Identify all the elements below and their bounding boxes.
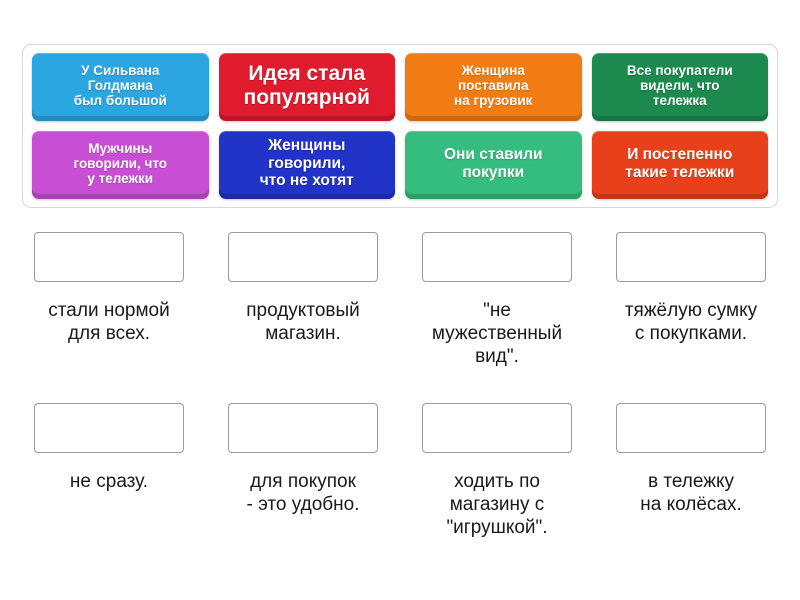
draggable-tile-5[interactable]: Мужчины говорили, что у тележки [32,131,209,199]
answer-item: ходить по магазину с "игрушкой". [410,403,584,540]
drop-zone-1[interactable] [34,232,184,282]
drop-zone-5[interactable] [34,403,184,453]
drop-zone-4[interactable] [616,232,766,282]
tile-bank-panel: У Сильвана Голдмана был большой Идея ста… [22,44,778,208]
answer-item: продуктовый магазин. [216,232,390,369]
tile-label: Женщины говорили, что не хотят [224,137,391,189]
draggable-tile-1[interactable]: У Сильвана Голдмана был большой [32,53,209,121]
answer-item: стали нормой для всех. [22,232,196,369]
drop-zone-2[interactable] [228,232,378,282]
draggable-tile-6[interactable]: Женщины говорили, что не хотят [219,131,396,199]
answer-item: для покупок - это удобно. [216,403,390,540]
answer-item: тяжёлую сумку с покупками. [604,232,778,369]
tile-label: Женщина поставила на грузовик [410,63,577,108]
drop-zone-6[interactable] [228,403,378,453]
answer-label: стали нормой для всех. [22,299,196,345]
tile-label: У Сильвана Голдмана был большой [37,63,204,108]
answer-item: "не мужественный вид". [410,232,584,369]
answer-label: тяжёлую сумку с покупками. [604,299,778,345]
tile-label: Все покупатели видели, что тележка [597,63,764,108]
tile-row-1: У Сильвана Голдмана был большой Идея ста… [32,53,768,121]
draggable-tile-7[interactable]: Они ставили покупки [405,131,582,199]
answer-item: не сразу. [22,403,196,540]
drop-zone-3[interactable] [422,232,572,282]
draggable-tile-4[interactable]: Все покупатели видели, что тележка [592,53,769,121]
matching-activity: У Сильвана Голдмана был большой Идея ста… [0,0,800,600]
answer-label: "не мужественный вид". [410,299,584,369]
drop-zone-7[interactable] [422,403,572,453]
answer-row-2: не сразу. для покупок - это удобно. ходи… [22,403,778,540]
drop-zone-8[interactable] [616,403,766,453]
answer-label: ходить по магазину с "игрушкой". [410,470,584,540]
tile-label: Они ставили покупки [410,146,577,181]
answer-label: не сразу. [22,470,196,493]
tile-label: Мужчины говорили, что у тележки [37,141,204,186]
draggable-tile-3[interactable]: Женщина поставила на грузовик [405,53,582,121]
tile-row-2: Мужчины говорили, что у тележки Женщины … [32,131,768,199]
tile-label: И постепенно такие тележки [597,146,764,181]
draggable-tile-8[interactable]: И постепенно такие тележки [592,131,769,199]
answer-item: в тележку на колёсах. [604,403,778,540]
tile-label: Идея стала популярной [224,62,391,109]
draggable-tile-2[interactable]: Идея стала популярной [219,53,396,121]
answer-row-1: стали нормой для всех. продуктовый магаз… [22,232,778,369]
answer-label: для покупок - это удобно. [216,470,390,516]
answer-label: в тележку на колёсах. [604,470,778,516]
answer-label: продуктовый магазин. [216,299,390,345]
